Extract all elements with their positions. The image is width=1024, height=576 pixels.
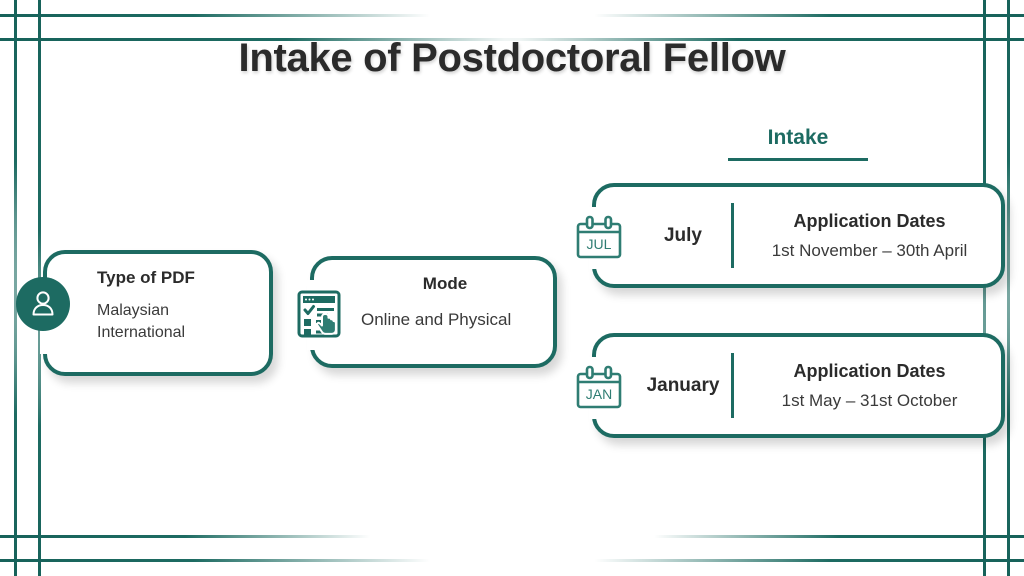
intake-section-underline — [728, 158, 868, 161]
intake-month-january: January — [638, 337, 728, 434]
intake-row-july: JUL July Application Dates 1st November … — [592, 183, 1005, 288]
person-avatar-icon — [16, 277, 70, 331]
intake-month-july: July — [638, 187, 728, 284]
frame-line-top-right-h1 — [594, 14, 1024, 17]
card-type-of-pdf-content: Type of PDF Malaysian International — [97, 268, 195, 343]
intake-dates-july: Application Dates 1st November – 30th Ap… — [746, 187, 993, 284]
online-form-click-icon — [292, 286, 348, 342]
application-dates-value: 1st May – 31st October — [782, 391, 958, 411]
application-dates-title: Application Dates — [793, 361, 945, 382]
card-mode-value: Online and Physical — [361, 310, 529, 330]
card-mode: Mode Online and Physical — [310, 256, 557, 368]
frame-line-bottom-right-h2 — [654, 535, 1024, 538]
frame-line-bottom-left-h2 — [0, 535, 370, 538]
frame-line-bottom-right-v1 — [1007, 216, 1010, 576]
calendar-icon: JUL — [570, 209, 628, 267]
intake-row-january: JAN January Application Dates 1st May – … — [592, 333, 1005, 438]
calendar-icon-label: JUL — [587, 236, 612, 252]
calendar-icon: JAN — [570, 359, 628, 417]
frame-line-bottom-left-h1 — [0, 559, 430, 562]
intake-section-label: Intake — [728, 126, 868, 150]
card-mode-content: Mode Online and Physical — [361, 274, 529, 330]
intake-row-divider — [731, 203, 734, 268]
frame-line-bottom-left-v1 — [14, 216, 17, 576]
frame-line-bottom-right-h1 — [594, 559, 1024, 562]
card-type-of-pdf-line1: Malaysian — [97, 300, 195, 322]
application-dates-title: Application Dates — [793, 211, 945, 232]
card-mode-heading: Mode — [361, 274, 529, 294]
card-type-of-pdf-line2: International — [97, 322, 195, 344]
card-type-of-pdf-heading: Type of PDF — [97, 268, 195, 288]
intake-dates-january: Application Dates 1st May – 31st October — [746, 337, 993, 434]
frame-line-top-left-h1 — [0, 14, 430, 17]
calendar-icon-label: JAN — [586, 386, 612, 402]
intake-row-divider — [731, 353, 734, 418]
application-dates-value: 1st November – 30th April — [772, 241, 968, 261]
page-title: Intake of Postdoctoral Fellow — [0, 36, 1024, 81]
card-type-of-pdf: Type of PDF Malaysian International — [43, 250, 273, 376]
